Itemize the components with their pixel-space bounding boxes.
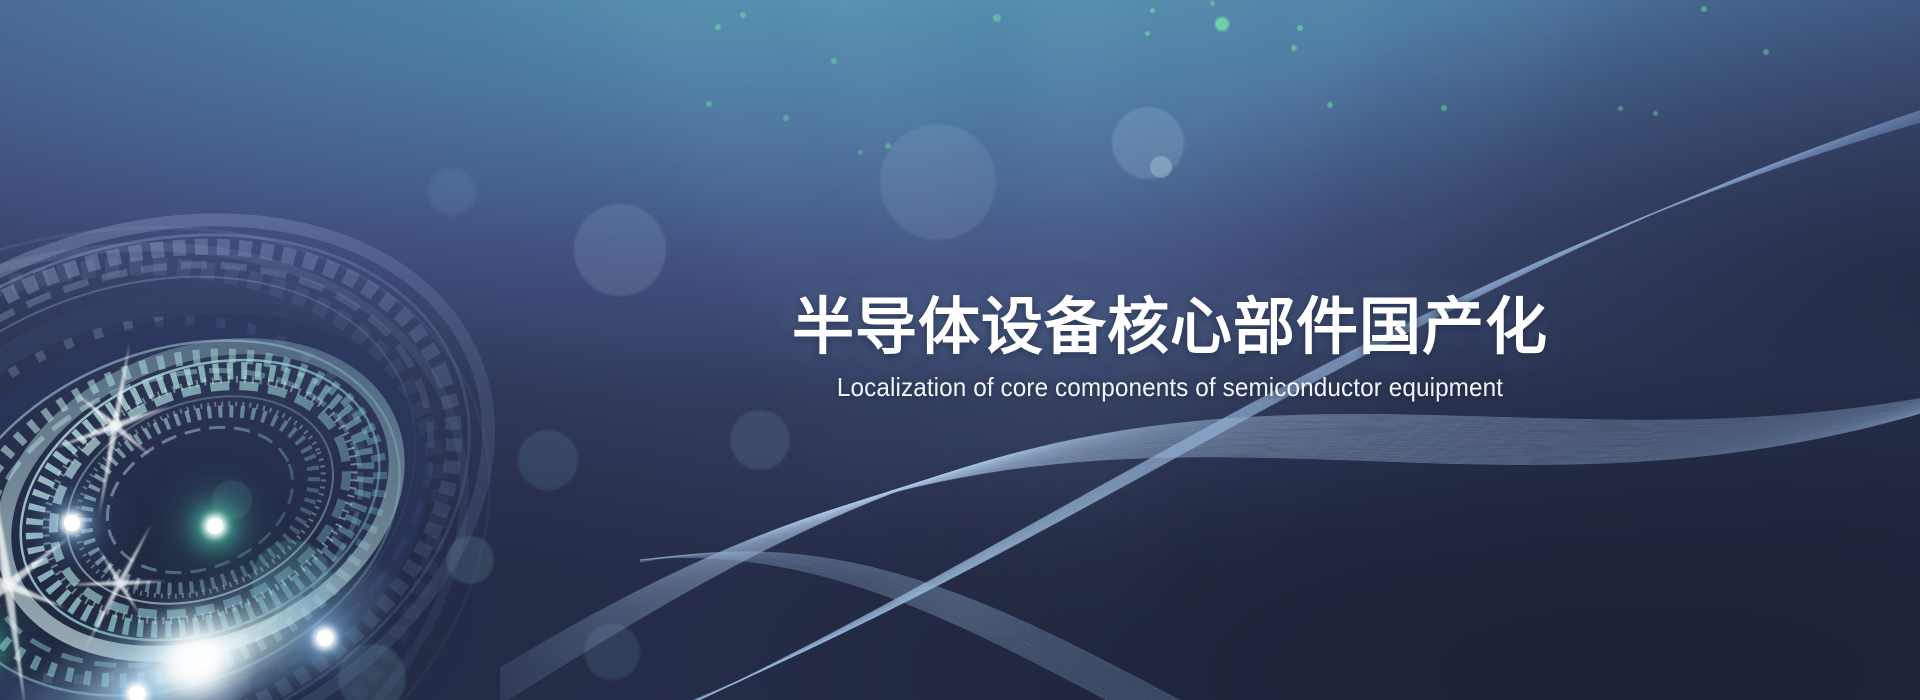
wave-line xyxy=(640,555,1700,700)
wave-line xyxy=(640,553,1700,700)
hud-node-dot xyxy=(317,630,333,646)
hero-banner: 半导体设备核心部件国产化 Localization of core compon… xyxy=(0,0,1920,700)
wave-line xyxy=(640,557,1700,700)
hud-node-dot xyxy=(64,515,80,531)
wave-line xyxy=(640,552,1700,700)
tech-hud-graphic xyxy=(0,200,740,700)
wave-line xyxy=(640,556,1700,700)
wave-line xyxy=(640,552,1700,700)
page-subtitle: Localization of core components of semic… xyxy=(693,372,1647,403)
hud-node-dot xyxy=(207,518,223,534)
wave-line xyxy=(640,554,1700,700)
wave-line xyxy=(640,556,1700,700)
wave-line xyxy=(640,552,1700,700)
wave-line xyxy=(640,553,1700,700)
wave-line xyxy=(640,555,1700,700)
wave-line xyxy=(640,552,1700,700)
wave-line xyxy=(640,555,1700,700)
wave-line xyxy=(640,557,1700,700)
wave-line xyxy=(640,558,1700,700)
wave-line xyxy=(640,557,1700,700)
wave-line xyxy=(640,554,1700,700)
wave-line xyxy=(640,553,1700,700)
wave-line xyxy=(640,553,1700,700)
wave-line xyxy=(640,555,1700,700)
wave-line xyxy=(640,557,1700,700)
wave-line xyxy=(640,554,1700,700)
wave-line xyxy=(640,557,1700,700)
page-title: 半导体设备核心部件国产化 xyxy=(660,296,1680,360)
wave-line xyxy=(640,556,1700,700)
wave-line xyxy=(640,554,1700,700)
wave-line xyxy=(640,553,1700,700)
wave-line xyxy=(640,552,1700,700)
hud-node-dot xyxy=(129,686,145,700)
wave-line xyxy=(640,556,1700,700)
wave-line xyxy=(640,558,1700,700)
wave-line xyxy=(640,556,1700,700)
wave-line xyxy=(640,553,1700,700)
banner-text-block: 半导体设备核心部件国产化 Localization of core compon… xyxy=(660,296,1680,403)
wave-line xyxy=(640,555,1700,700)
wave-line xyxy=(640,556,1700,700)
wave-line xyxy=(640,554,1700,700)
